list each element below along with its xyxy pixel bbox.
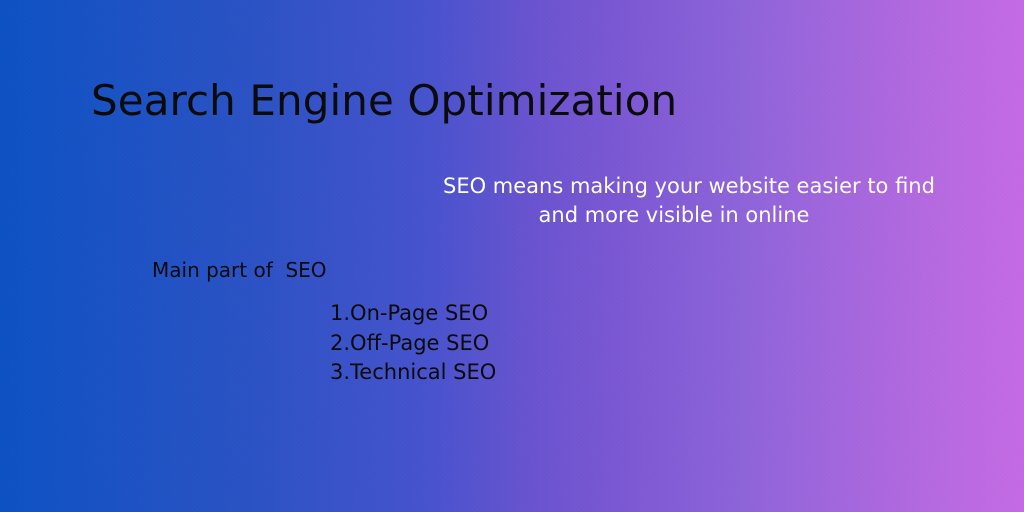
seo-definition-line-1: SEO means making your website easier to … xyxy=(443,172,905,201)
seo-definition-line-2: and more visible in online xyxy=(443,201,905,230)
page-title: Search Engine Optimization xyxy=(91,76,677,126)
list-item: 2.Off-Page SEO xyxy=(330,329,496,359)
seo-definition-text: SEO means making your website easier to … xyxy=(443,172,905,230)
main-part-subheading: Main part of SEO xyxy=(152,257,327,284)
seo-slide: Search Engine Optimization SEO means mak… xyxy=(0,0,1024,512)
list-item: 1.On-Page SEO xyxy=(330,299,496,329)
list-item: 3.Technical SEO xyxy=(330,358,496,388)
seo-types-list: 1.On-Page SEO 2.Off-Page SEO 3.Technical… xyxy=(330,299,496,388)
